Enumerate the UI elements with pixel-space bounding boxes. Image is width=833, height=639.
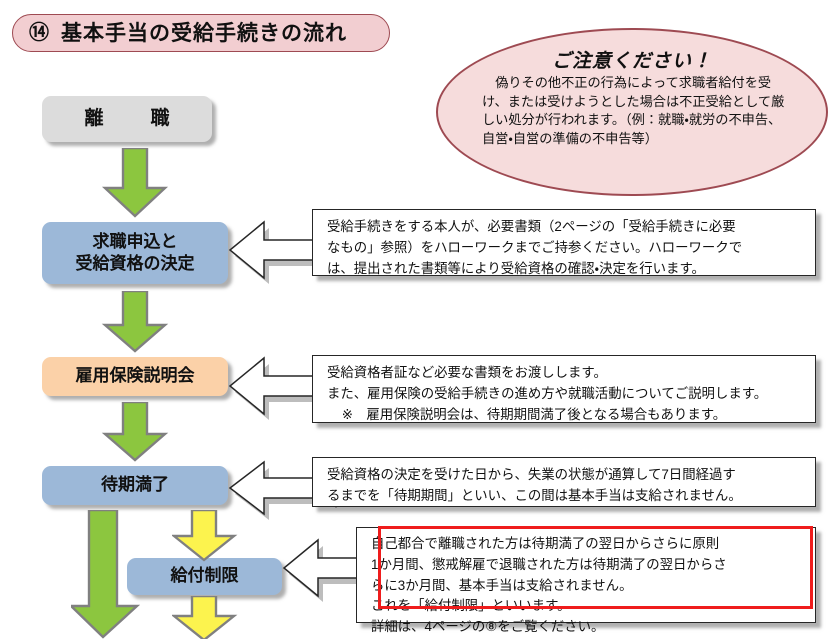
flow-node-setsumei: 雇用保険説明会 [42, 357, 228, 396]
page-title-banner: ⑭ 基本手当の受給手続きの流れ [12, 14, 390, 52]
callout-seigen: 自己都合で離職された方は待期満了の翌日からさらに原則 1か月間、懲戒解雇で退職さ… [356, 527, 816, 623]
callout-kyushoku: 受給手続きをする本人が、必要書類（2ページの「受給手続きに必要 なもの」参照）を… [312, 209, 816, 276]
flowchart-page: ⑭ 基本手当の受給手続きの流れ ご注意ください！ 偽りその他不正の行為によって求… [0, 0, 833, 639]
page-title: 基本手当の受給手続きの流れ [61, 23, 347, 44]
callout-seigen-line3: らに3か月間、基本手当は支給されません。 [371, 576, 805, 597]
callout-taiki-line2: るまでを「待期期間」といい、この間は基本手当は支給されません。 [327, 486, 805, 507]
arrow-green-setsumei-to-taiki [101, 402, 169, 462]
arrow-green-kyushoku-to-setsumei [101, 291, 169, 353]
callout-setsumei: 受給資格者証など必要な書類をお渡しします。 また、雇用保険の受給手続きの進め方や… [312, 355, 816, 423]
section-number: ⑭ [29, 23, 49, 43]
arrow-yellow-seigen-continue [172, 596, 238, 639]
flow-node-kyushoku: 求職申込と 受給資格の決定 [42, 222, 228, 284]
callout-seigen-line1: 自己都合で離職された方は待期満了の翌日からさらに原則 [371, 534, 805, 555]
warning-heading: ご注意ください！ [438, 46, 826, 73]
callout-taiki: 受給資格の決定を受けた日から、失業の状態が通算して7日間経過す るまでを「待期期… [312, 457, 816, 507]
flow-node-kyushoku-label-line2: 受給資格の決定 [76, 253, 195, 275]
callout-setsumei-line2: また、雇用保険の受給手続きの進め方や就職活動についてご説明します。 [327, 384, 805, 405]
warning-body-text: 偽りその他不正の行為によって求職者給付を受け、または受けようとした場合は不正受給… [482, 74, 786, 149]
arrow-green-rishoku-to-kyushoku [101, 148, 169, 218]
callout-kyushoku-line2: なもの」参照）をハローワークまでご持参ください。ハローワークで [327, 238, 805, 259]
flow-node-taiki-label: 待期満了 [101, 474, 169, 496]
callout-seigen-line5: 詳細は、4ページの⑧をご覧ください。 [371, 617, 805, 638]
flow-node-seigen-label: 給付制限 [171, 565, 239, 587]
callout-taiki-line1: 受給資格の決定を受けた日から、失業の状態が通算して7日間経過す [327, 465, 805, 486]
warning-callout-ellipse: ご注意ください！ 偽りその他不正の行為によって求職者給付を受け、または受けようと… [436, 28, 828, 196]
callout-setsumei-line3: ※ 雇用保険説明会は、待期期間満了後となる場合もあります。 [327, 405, 805, 426]
arrow-green-taiki-branch-left [71, 510, 143, 639]
flow-node-setsumei-label: 雇用保険説明会 [76, 365, 195, 387]
callout-seigen-line4: これを「給付制限」といいます。 [371, 596, 805, 617]
flow-node-rishoku: 離 職 [42, 96, 212, 142]
callout-kyushoku-line1: 受給手続きをする本人が、必要書類（2ページの「受給手続きに必要 [327, 217, 805, 238]
flow-node-seigen: 給付制限 [127, 558, 282, 595]
callout-seigen-line2: 1か月間、懲戒解雇で退職された方は待期満了の翌日からさ [371, 555, 805, 576]
callout-kyushoku-line3: は、提出された書類等により受給資格の確認・決定を行います。 [327, 259, 805, 280]
flow-node-kyushoku-label-line1: 求職申込と [76, 231, 195, 253]
callout-setsumei-line1: 受給資格者証など必要な書類をお渡しします。 [327, 363, 805, 384]
flow-node-rishoku-label: 離 職 [70, 106, 183, 131]
flow-node-taiki: 待期満了 [42, 466, 228, 505]
